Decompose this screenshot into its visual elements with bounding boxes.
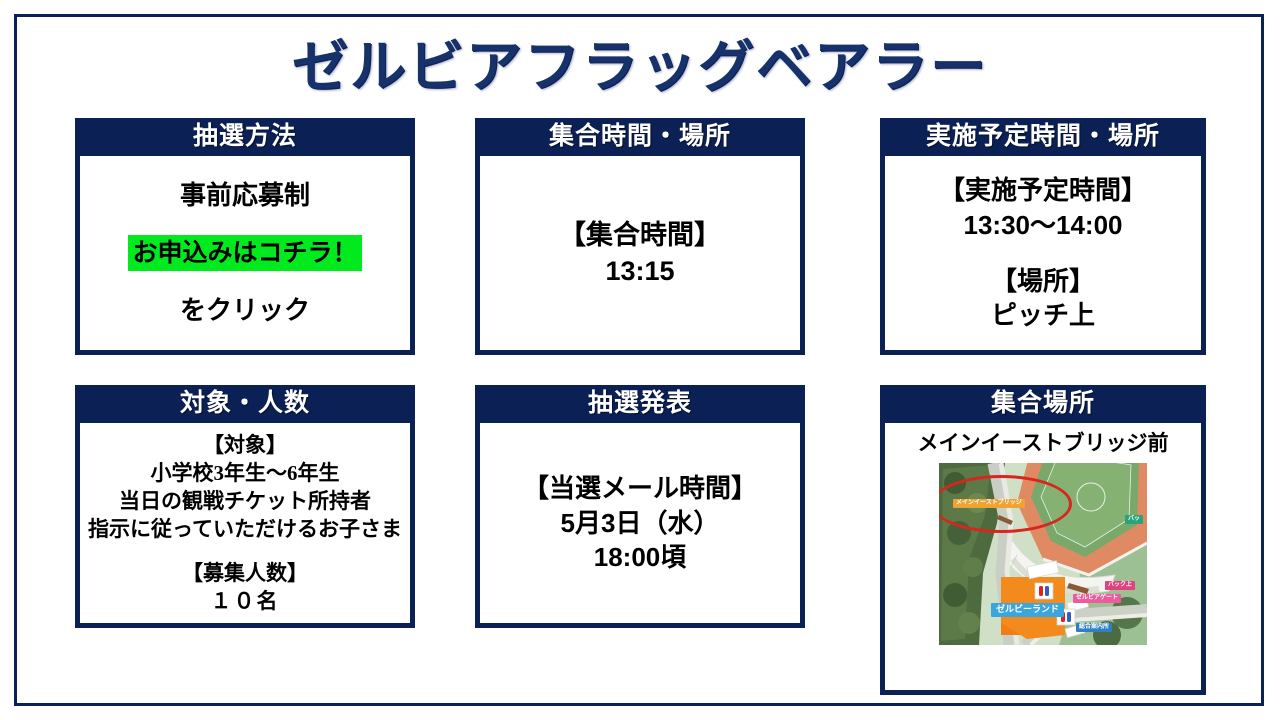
result-mail-date: 5月3日（水） <box>561 506 720 541</box>
schedule-time-label: 【実施予定時間】 <box>939 173 1147 207</box>
capacity-value: １０名 <box>211 587 280 615</box>
card-schedule-body: 【実施予定時間】 13:30〜14:00 【場所】 ピッチ上 <box>885 156 1201 350</box>
card-result-body: 【当選メール時間】 5月3日（水） 18:00頃 <box>480 423 800 623</box>
card-eligibility-heading: 対象・人数 <box>75 385 415 423</box>
result-mail-time: 18:00頃 <box>594 540 687 575</box>
card-lottery-method-body: 事前応募制 お申込みはコチラ！ をクリック <box>80 156 410 350</box>
eligibility-instruction: 指示に従っていただけるお子さま <box>88 515 402 543</box>
stadium-map-image: メインイーストブリッジ バッ バック上 ゼルビアゲート ゼルビーランド 総合案内… <box>939 463 1147 645</box>
page-title: ゼルビアフラッグベアラー <box>0 22 1280 103</box>
capacity-label: 【募集人数】 <box>182 559 308 587</box>
eligibility-label: 【対象】 <box>203 431 287 459</box>
card-eligibility: 対象・人数 【対象】 小学校3年生〜6年生 当日の観戦チケット所持者 指示に従っ… <box>75 385 415 628</box>
eligibility-ticket: 当日の観戦チケット所持者 <box>119 487 371 515</box>
map-label-back-green: バッ <box>1125 515 1143 524</box>
schedule-place-value: ピッチ上 <box>991 298 1095 332</box>
schedule-time-value: 13:30〜14:00 <box>964 208 1123 242</box>
card-meeting-place: 集合場所 メインイーストブリッジ前 <box>880 385 1206 695</box>
map-label-zelvia-gate: ゼルビアゲート <box>1073 594 1121 603</box>
schedule-place-label: 【場所】 <box>991 264 1095 298</box>
card-meeting-place-body: メインイーストブリッジ前 <box>885 423 1201 690</box>
card-meeting-time-heading: 集合時間・場所 <box>475 118 805 156</box>
lottery-method-line-3: をクリック <box>180 294 310 327</box>
lottery-method-line-1: 事前応募制 <box>180 179 310 212</box>
map-label-information-center: 総合案内所 <box>1076 623 1112 632</box>
meeting-time-label: 【集合時間】 <box>559 217 721 253</box>
card-lottery-method: 抽選方法 事前応募制 お申込みはコチラ！ をクリック <box>75 118 415 355</box>
meeting-time-value: 13:15 <box>605 253 674 289</box>
card-meeting-time-body: 【集合時間】 13:15 <box>480 156 800 350</box>
card-meeting-time: 集合時間・場所 【集合時間】 13:15 <box>475 118 805 355</box>
card-result-heading: 抽選発表 <box>475 385 805 423</box>
apply-here-link[interactable]: お申込みはコチラ！ <box>128 235 361 272</box>
map-label-back-upper: バック上 <box>1105 581 1135 590</box>
card-result: 抽選発表 【当選メール時間】 5月3日（水） 18:00頃 <box>475 385 805 628</box>
card-lottery-method-heading: 抽選方法 <box>75 118 415 156</box>
card-schedule-heading: 実施予定時間・場所 <box>880 118 1206 156</box>
card-schedule: 実施予定時間・場所 【実施予定時間】 13:30〜14:00 【場所】 ピッチ上 <box>880 118 1206 355</box>
map-label-zelby-land: ゼルビーランド <box>991 603 1064 617</box>
slide-root: ゼルビアフラッグベアラー 抽選方法 事前応募制 お申込みはコチラ！ をクリック … <box>0 0 1280 720</box>
eligibility-grade: 小学校3年生〜6年生 <box>151 459 340 487</box>
result-mail-label: 【当選メール時間】 <box>523 471 757 506</box>
meeting-place-text: メインイーストブリッジ前 <box>918 431 1169 456</box>
card-eligibility-body: 【対象】 小学校3年生〜6年生 当日の観戦チケット所持者 指示に従っていただける… <box>80 423 410 623</box>
card-meeting-place-heading: 集合場所 <box>880 385 1206 423</box>
